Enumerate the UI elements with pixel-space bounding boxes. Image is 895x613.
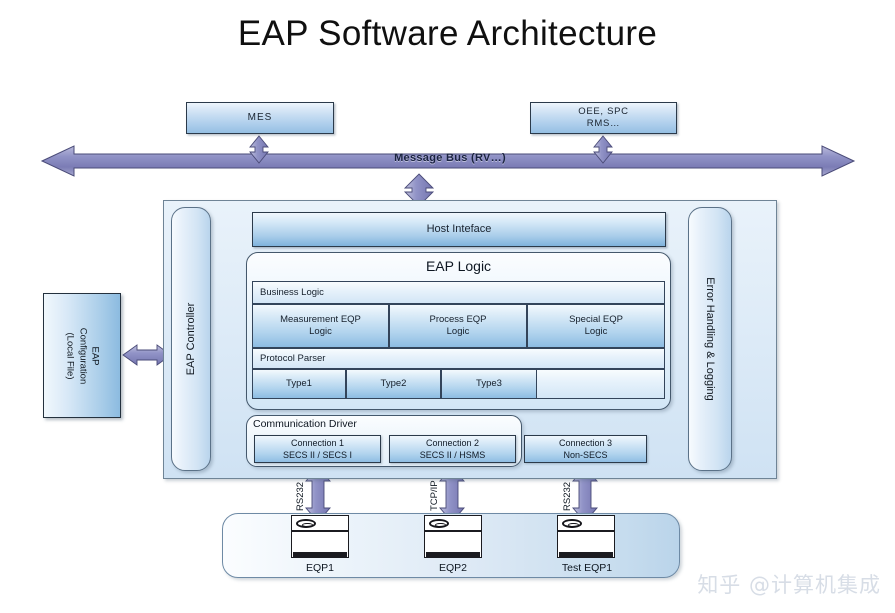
eqp-base [559,552,613,557]
protocol-type2-label: Type2 [381,378,407,390]
eqp-base [426,552,480,557]
connection-2-label: Connection 2 SECS II / HSMS [420,437,486,461]
eqp2-icon[interactable] [424,515,482,558]
process-eqp-logic-label: Process EQP Logic [429,314,486,339]
eap-controller-label: EAP Controller [185,303,197,376]
rs232-label-2: RS232 [562,482,573,511]
rs232-label-1: RS232 [295,482,306,511]
diagram-canvas: EAP Software Architecture [0,0,895,613]
measurement-eqp-logic-cell[interactable]: Measurement EQP Logic [252,304,389,348]
oee-spc-rms-box[interactable]: OEE, SPC RMS… [530,102,677,134]
connection-1-box[interactable]: Connection 1 SECS II / SECS I [254,435,381,463]
protocol-type3-label: Type3 [476,378,502,390]
eqp-topline [292,530,348,532]
eap-controller-pillar[interactable]: EAP Controller [171,207,211,471]
connection-2-box[interactable]: Connection 2 SECS II / HSMS [389,435,516,463]
protocol-parser-empty-slot [537,369,665,399]
host-interface-label: Host Inteface [427,223,492,237]
error-handling-logging-label: Error Handling & Logging [704,277,716,401]
mes-box[interactable]: MES [186,102,334,134]
connection-3-label: Connection 3 Non-SECS [559,437,612,461]
protocol-type1-label: Type1 [286,378,312,390]
eqp-topline [425,530,481,532]
eqp-topline [558,530,614,532]
eqp2-label: EQP2 [414,562,492,574]
special-eqp-logic-cell[interactable]: Special EQP Logic [527,304,665,348]
eap-logic-title: EAP Logic [246,258,671,278]
process-eqp-logic-cell[interactable]: Process EQP Logic [389,304,527,348]
eqp-base [293,552,347,557]
communication-driver-label: Communication Driver [253,418,453,434]
business-logic-band: Business Logic [252,281,665,304]
mes-bus-arrow [250,136,268,163]
oee-label: OEE, SPC RMS… [578,106,628,130]
message-bus-label: Message Bus (RV…) [300,152,600,170]
eap-configuration-label: EAP Configuration (Local File) [63,327,100,384]
connection-3-box[interactable]: Connection 3 Non-SECS [524,435,647,463]
connection-1-label: Connection 1 SECS II / SECS I [283,437,352,461]
measurement-eqp-logic-label: Measurement EQP Logic [280,314,361,339]
eqp-disc-icon [562,519,582,528]
eqp1-icon[interactable] [291,515,349,558]
page-title: EAP Software Architecture [0,14,895,54]
eqp-disc-icon [296,519,316,528]
tcpip-label: TCP/IP [429,480,440,511]
test-eqp1-label: Test EQP1 [547,562,627,574]
host-interface-box[interactable]: Host Inteface [252,212,666,247]
business-logic-label: Business Logic [260,287,324,298]
mes-label: MES [248,112,273,125]
eap-configuration-box[interactable]: EAP Configuration (Local File) [43,293,121,418]
protocol-parser-label: Protocol Parser [260,353,325,364]
test-eqp1-icon[interactable] [557,515,615,558]
error-handling-logging-pillar[interactable]: Error Handling & Logging [688,207,732,471]
protocol-type1-cell[interactable]: Type1 [252,369,346,399]
special-eqp-logic-label: Special EQP Logic [569,314,623,339]
protocol-type3-cell[interactable]: Type3 [441,369,537,399]
eqp1-label: EQP1 [281,562,359,574]
watermark: 知乎 @计算机集成 [697,569,881,599]
protocol-type2-cell[interactable]: Type2 [346,369,441,399]
protocol-parser-band: Protocol Parser [252,348,665,369]
eqp-disc-icon [429,519,449,528]
